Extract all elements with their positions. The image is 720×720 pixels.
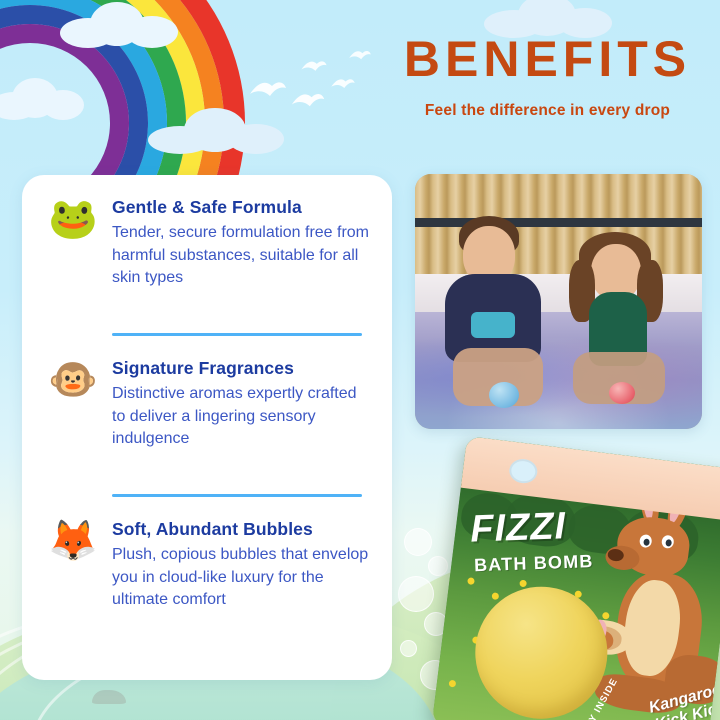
benefit-divider <box>112 494 362 497</box>
page-subtitle: Feel the difference in every drop <box>385 102 710 120</box>
page-title: BENEFITS <box>385 34 710 84</box>
bird-icon <box>290 90 326 110</box>
bird-icon <box>330 76 356 91</box>
benefits-card: 🐸 Gentle & Safe Formula Tender, secure f… <box>22 175 392 680</box>
benefit-item-3: 🦊 Soft, Abundant Bubbles Plush, copious … <box>42 519 372 631</box>
bird-icon <box>300 58 328 74</box>
package-brand-name: FIZZI <box>470 507 567 548</box>
benefit-description: Distinctive aromas expertly crafted to d… <box>112 383 372 451</box>
foam-bubble <box>404 528 432 556</box>
foam-bubble <box>428 556 448 576</box>
benefit-item-1: 🐸 Gentle & Safe Formula Tender, secure f… <box>42 197 372 309</box>
cloud-left <box>0 78 86 122</box>
fox-face-icon: 🦊 <box>48 521 98 561</box>
monkey-face-icon: 🐵 <box>48 360 98 400</box>
bird-icon <box>348 48 372 62</box>
lifestyle-photo <box>415 174 702 429</box>
cloud-top-left <box>60 0 180 46</box>
foam-bubble <box>398 576 434 612</box>
benefit-item-2: 🐵 Signature Fragrances Distinctive aroma… <box>42 358 372 470</box>
bird-icon <box>248 78 288 100</box>
photo-child-girl <box>565 232 683 420</box>
benefit-title: Soft, Abundant Bubbles <box>112 519 372 540</box>
foam-bubble <box>400 640 417 657</box>
benefit-description: Plush, copious bubbles that envelop you … <box>112 544 372 612</box>
frog-face-icon: 🐸 <box>48 199 98 239</box>
benefit-divider <box>112 333 362 336</box>
benefit-title: Gentle & Safe Formula <box>112 197 372 218</box>
photo-child-boy <box>443 216 553 416</box>
header: BENEFITS Feel the difference in every dr… <box>385 34 710 120</box>
product-package: FIZZI BATH BOMB TOY INSIDE Kangaroo Kick… <box>432 436 720 720</box>
benefit-title: Signature Fragrances <box>112 358 372 379</box>
package-hang-hole <box>508 458 539 485</box>
benefit-description: Tender, secure formulation free from har… <box>112 222 372 290</box>
package-body: FIZZI BATH BOMB TOY INSIDE Kangaroo Kick… <box>432 436 720 720</box>
infographic-canvas: BENEFITS Feel the difference in every dr… <box>0 0 720 720</box>
cloud-mid-left <box>148 106 284 154</box>
package-product-type: BATH BOMB <box>474 551 594 576</box>
